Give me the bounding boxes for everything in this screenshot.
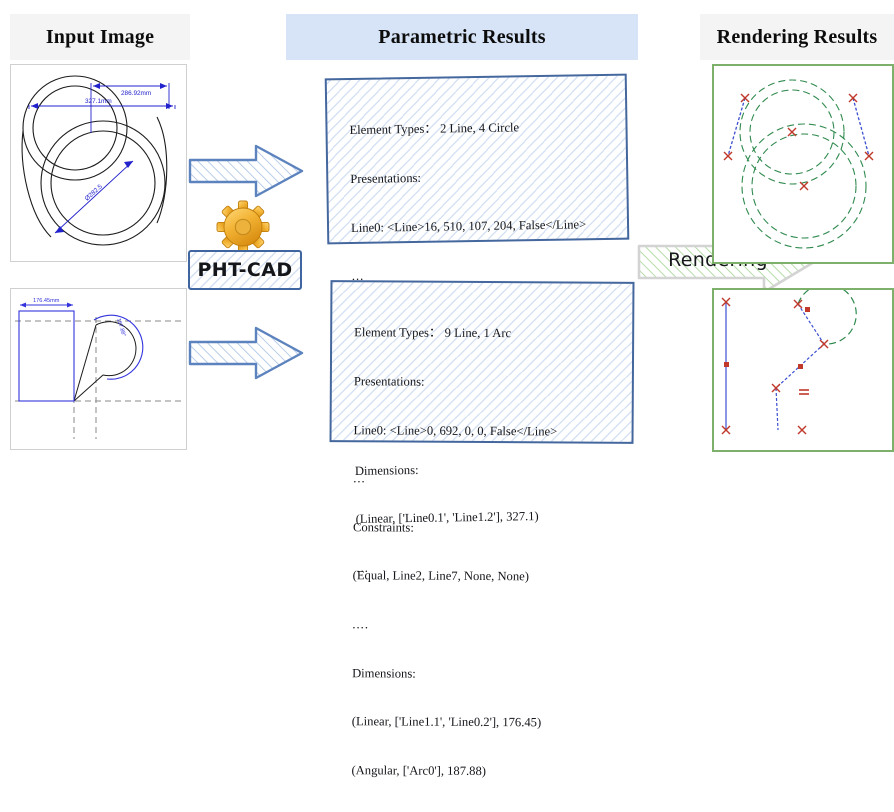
card-line: ... — [353, 470, 619, 488]
card-line: Presentations: — [354, 373, 620, 391]
gear-icon — [214, 198, 272, 256]
render-image-top — [712, 64, 894, 264]
card-line: Line0: <Line>16, 510, 107, 204, False</L… — [351, 215, 615, 235]
card-line: Element Types： 2 Line, 4 Circle — [349, 118, 613, 138]
card-line: (Angular, ['Arc0'], 187.88) — [351, 762, 617, 780]
svg-text:Ø282.5: Ø282.5 — [84, 183, 105, 203]
card-line: Element Types： 9 Line, 1 Arc — [354, 325, 620, 343]
input-image-top: 286.92mm 327.1mm Ø282.5 — [10, 64, 187, 262]
card-line: Dimensions: — [352, 665, 618, 683]
card-line: Line0: <Line>0, 692, 0, 0, False</Line> — [354, 422, 620, 440]
card-line: Presentations: — [350, 167, 614, 187]
pht-cad-label: PHT-CAD — [188, 250, 302, 290]
parametric-card-top: Element Types： 2 Line, 4 Circle Presenta… — [325, 74, 630, 245]
svg-text:286.92mm: 286.92mm — [121, 90, 151, 97]
card-line: .... — [352, 616, 618, 634]
svg-text:187.88°: 187.88° — [115, 318, 126, 338]
column-header-parametric-results: Parametric Results — [286, 14, 638, 60]
column-header-input-image: Input Image — [10, 14, 190, 60]
parametric-card-bottom: Element Types： 9 Line, 1 Arc Presentatio… — [330, 280, 635, 444]
card-line: Constraints: — [353, 519, 619, 537]
arrow-input-to-parametric-top — [186, 140, 308, 202]
render-image-bottom — [712, 288, 894, 452]
input-image-bottom: 176.45mm 187.88° — [10, 288, 187, 450]
svg-text:176.45mm: 176.45mm — [33, 298, 60, 304]
column-header-rendering-results: Rendering Results — [700, 14, 894, 60]
svg-text:327.1mm: 327.1mm — [85, 98, 112, 105]
parametric-card-bottom-text: Element Types： 9 Line, 1 Arc Presentatio… — [351, 292, 620, 812]
arrow-input-to-parametric-bottom — [186, 322, 308, 384]
pht-cad-logo: PHT-CAD — [188, 198, 302, 290]
card-line: (Linear, ['Line1.1', 'Line0.2'], 176.45) — [352, 713, 618, 731]
card-line: (Equal, Line2, Line7, None, None) — [353, 568, 619, 586]
